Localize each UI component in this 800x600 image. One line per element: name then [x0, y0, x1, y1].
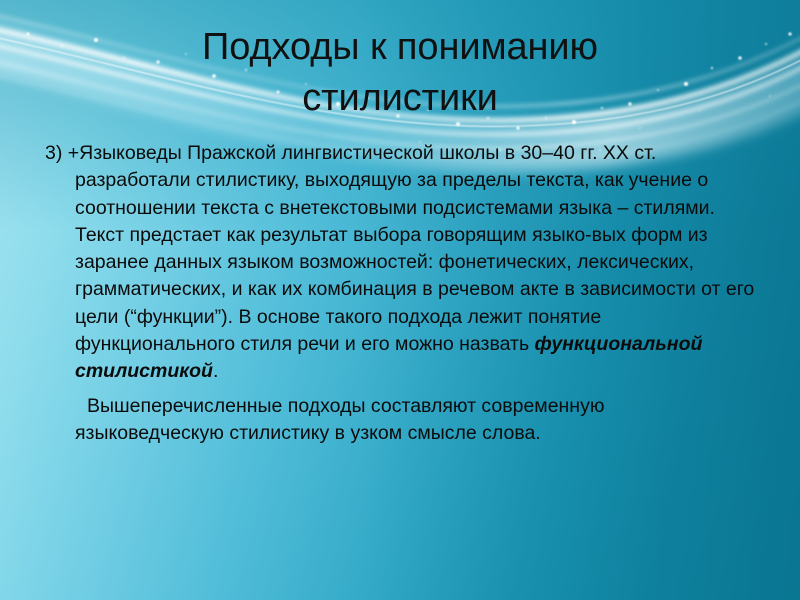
paragraph-conclusion: Вышеперечисленные подходы составляют сов…: [45, 393, 757, 448]
presentation-slide: Подходы к пониманию стилистики 3) +Языко…: [0, 0, 800, 600]
paragraph-main-text-before-emphasis: 3) +Языковеды Пражской лингвистической ш…: [45, 142, 754, 355]
paragraph-main: 3) +Языковеды Пражской лингвистической ш…: [45, 140, 757, 386]
slide-body: 3) +Языковеды Пражской лингвистической ш…: [45, 140, 757, 447]
slide-title: Подходы к пониманию стилистики: [60, 22, 740, 123]
paragraph-main-text-after-emphasis: .: [213, 360, 218, 382]
